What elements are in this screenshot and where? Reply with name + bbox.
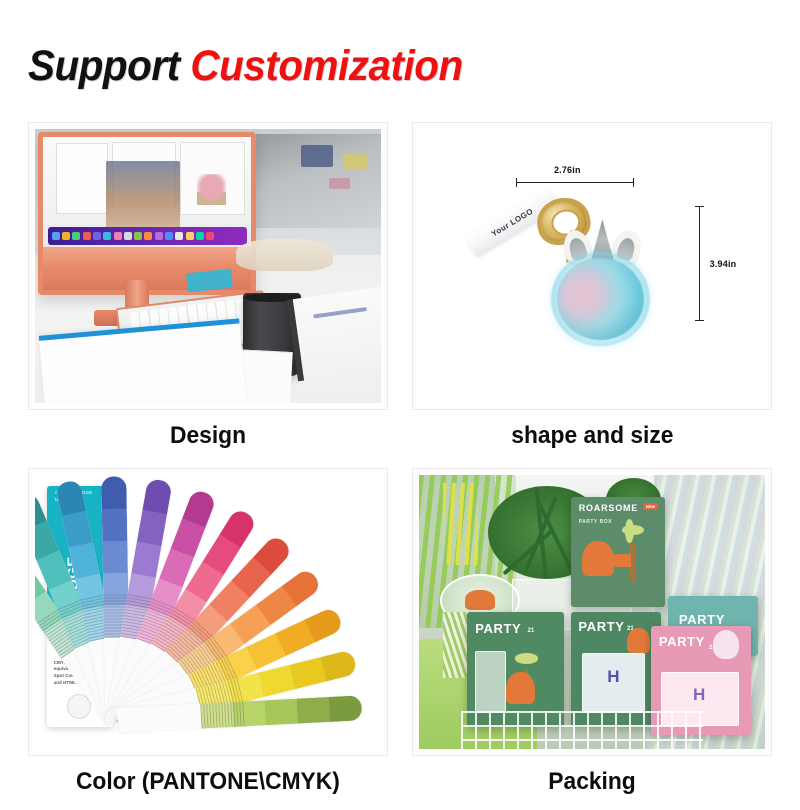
panel-shape-and-size[interactable]: 2.76in 3.94in Your LOGO (412, 122, 772, 464)
shelf-item (301, 145, 332, 167)
width-dimension-label: 2.76in (554, 165, 581, 175)
pom-pom-fuzz (551, 252, 650, 346)
dock-icon (196, 232, 204, 240)
panel-shape-and-size-frame: 2.76in 3.94in Your LOGO (412, 122, 772, 410)
pantone-color-bridge-guide: COLOR BRIDGE Uncoated COLOR BRIDGE Uncoa… (35, 475, 381, 749)
panel-shape-and-size-caption: shape and size (511, 410, 673, 464)
llama-graphic (713, 630, 739, 658)
panel-packing[interactable]: ROARSOME PARTY BOX NEW PARTY (412, 468, 772, 810)
panel-packing-caption: Packing (548, 756, 635, 810)
box-roarsome: ROARSOME PARTY BOX NEW (571, 497, 664, 607)
screen-photo-subject (106, 161, 181, 236)
box-roarsome-title: ROARSOME (579, 503, 638, 513)
feature-grid: Design 2.76in 3.94in Your LOGO (0, 122, 800, 810)
box-window (475, 651, 506, 713)
dino-graphic (627, 628, 650, 653)
dock-icon (114, 232, 122, 240)
plate-dino-graphic (465, 590, 495, 610)
dock-icon (83, 232, 91, 240)
wire-rack (461, 711, 703, 749)
dock-icon (124, 232, 132, 240)
logo-tag-text: Your LOGO (490, 207, 535, 239)
box-roarsome-badge: NEW (643, 503, 658, 510)
dino-graphic (506, 672, 535, 704)
page-title: Support Customization (28, 38, 490, 94)
dock-icon (134, 232, 142, 240)
screen-dock (48, 227, 247, 245)
panel-design-caption: Design (170, 410, 246, 464)
fan-blade-codes (200, 701, 245, 728)
panel-color[interactable]: COLOR BRIDGE Uncoated COLOR BRIDGE Uncoa… (28, 468, 388, 810)
screen-flower-photo (197, 174, 226, 205)
palm-leaf-graphic (625, 519, 633, 543)
dock-icon (62, 232, 70, 240)
panel-design[interactable]: Design (28, 122, 388, 464)
notebook-writing (313, 308, 367, 319)
party-box-packing-photo: ROARSOME PARTY BOX NEW PARTY (419, 475, 765, 749)
panel-packing-image: ROARSOME PARTY BOX NEW PARTY (419, 475, 765, 749)
panel-color-frame: COLOR BRIDGE Uncoated COLOR BRIDGE Uncoa… (28, 468, 388, 756)
box-party-green-mid-title: PARTY (578, 619, 624, 634)
pom-pom-ball (557, 258, 644, 340)
page-title-accent: Customization (190, 42, 462, 90)
dock-icon (93, 232, 101, 240)
palm-leaf-graphic (515, 653, 538, 663)
height-dimension-line (699, 206, 700, 321)
yellow-grass-decor (443, 483, 478, 565)
imac-screen (43, 137, 251, 247)
dock-icon (155, 232, 163, 240)
dock-icon (206, 232, 214, 240)
dock-icon (72, 232, 80, 240)
letter-tile: H (693, 685, 705, 705)
panel-design-frame (28, 122, 388, 410)
letter-tile: H (607, 667, 619, 687)
box-party-green-left-small: 21 (528, 628, 535, 634)
height-dimension-label: 3.94in (710, 259, 737, 269)
dock-icon (103, 232, 111, 240)
screen-window (56, 143, 108, 213)
panel-shape-and-size-image: 2.76in 3.94in Your LOGO (419, 129, 765, 403)
panel-packing-frame: ROARSOME PARTY BOX NEW PARTY (412, 468, 772, 756)
panel-color-image: COLOR BRIDGE Uncoated COLOR BRIDGE Uncoa… (35, 475, 381, 749)
cloth-bundle (236, 239, 333, 272)
box-party-pink-title: PARTY (659, 634, 705, 649)
fan-blade-stub (117, 703, 201, 732)
panel-design-image (35, 129, 381, 403)
box-roarsome-subtitle: PARTY BOX (579, 519, 612, 525)
dock-icon (186, 232, 194, 240)
box-party-green-left-title: PARTY (475, 621, 521, 636)
shelf-item (329, 178, 350, 189)
dock-icon (165, 232, 173, 240)
dock-icon (144, 232, 152, 240)
dock-icon (52, 232, 60, 240)
width-dimension-line (516, 182, 634, 183)
feature-row-2: COLOR BRIDGE Uncoated COLOR BRIDGE Uncoa… (0, 468, 800, 810)
office-desk-photo (35, 129, 381, 403)
shelf-item (343, 154, 367, 170)
dock-icon (175, 232, 183, 240)
notebook (287, 287, 381, 382)
panel-color-caption: Color (PANTONE\CMYK) (76, 756, 340, 810)
dino-tail-graphic (607, 554, 631, 567)
keychain-dimension-diagram: 2.76in 3.94in Your LOGO (419, 129, 765, 403)
feature-row-1: Design 2.76in 3.94in Your LOGO (0, 122, 800, 464)
page-title-primary: Support (28, 42, 180, 90)
